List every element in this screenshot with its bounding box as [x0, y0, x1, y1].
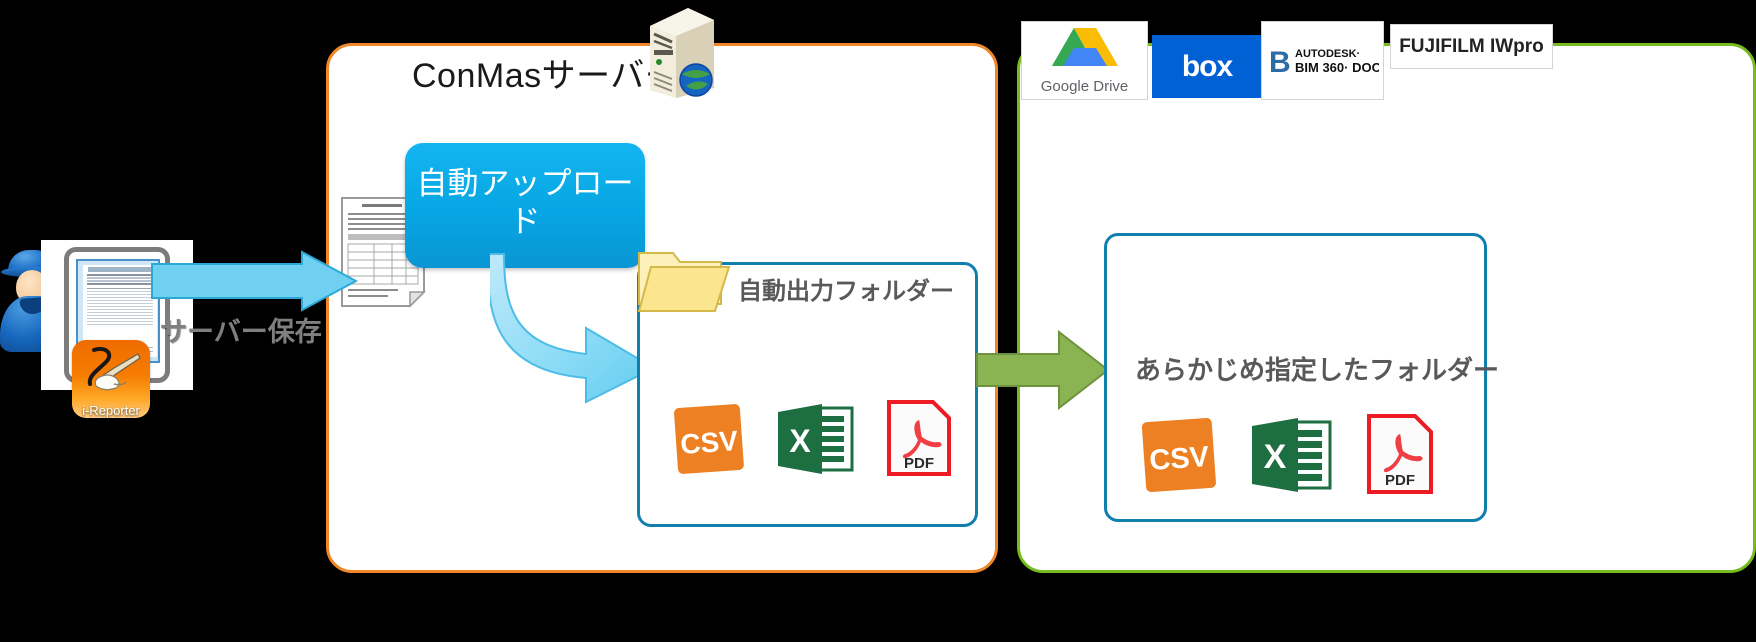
box-logo[interactable]: box: [1152, 35, 1262, 98]
svg-text:CSV: CSV: [679, 425, 739, 460]
server-save-arrow: [150, 250, 358, 312]
autodesk-bim360-logo[interactable]: B AUTODESK· BIM 360· DOCS: [1261, 21, 1384, 100]
auto-output-folder-label: 自動出力フォルダー: [738, 271, 954, 306]
cloud-transfer-arrow: [975, 330, 1110, 410]
svg-text:X: X: [1264, 438, 1287, 476]
pdf-file-icon: PDF: [884, 398, 954, 483]
diagram-canvas: ConMasサーバー: [0, 0, 1756, 642]
google-drive-logo[interactable]: Google Drive: [1021, 21, 1148, 100]
conmas-server-title: ConMasサーバー: [412, 48, 679, 97]
svg-text:PDF: PDF: [1385, 472, 1415, 489]
auto-upload-label: 自動アップロード: [405, 165, 645, 241]
svg-text:X: X: [789, 423, 811, 459]
csv-file-icon: CSV: [1140, 414, 1218, 501]
designated-file-list: CSV X PDF: [1140, 412, 1440, 501]
svg-text:CSV: CSV: [1148, 441, 1210, 477]
fujifilm-iwpro-logo[interactable]: FUJIFILM IWpro: [1390, 24, 1553, 69]
folder-icon: [637, 243, 733, 315]
designated-folder-label: あらかじめ指定したフォルダー: [1135, 350, 1499, 387]
fujifilm-iwpro-label: FUJIFILM IWpro: [1399, 36, 1544, 58]
output-file-list: CSV X PDF: [672, 398, 952, 483]
server-save-label: サーバー保存: [160, 310, 322, 349]
svg-text:AUTODESK·: AUTODESK·: [1295, 48, 1360, 60]
svg-text:PDF: PDF: [904, 455, 934, 472]
server-tower-icon: [642, 2, 722, 100]
i-reporter-app-label: i-Reporter: [72, 403, 150, 418]
pdf-file-icon: PDF: [1364, 412, 1436, 501]
csv-file-icon: CSV: [672, 400, 746, 483]
excel-file-icon: X: [1248, 414, 1334, 501]
svg-text:BIM 360· DOCS: BIM 360· DOCS: [1295, 60, 1379, 75]
excel-file-icon: X: [774, 400, 856, 483]
google-drive-label: Google Drive: [1041, 78, 1129, 95]
svg-text:B: B: [1269, 46, 1291, 79]
box-label: box: [1182, 50, 1232, 84]
